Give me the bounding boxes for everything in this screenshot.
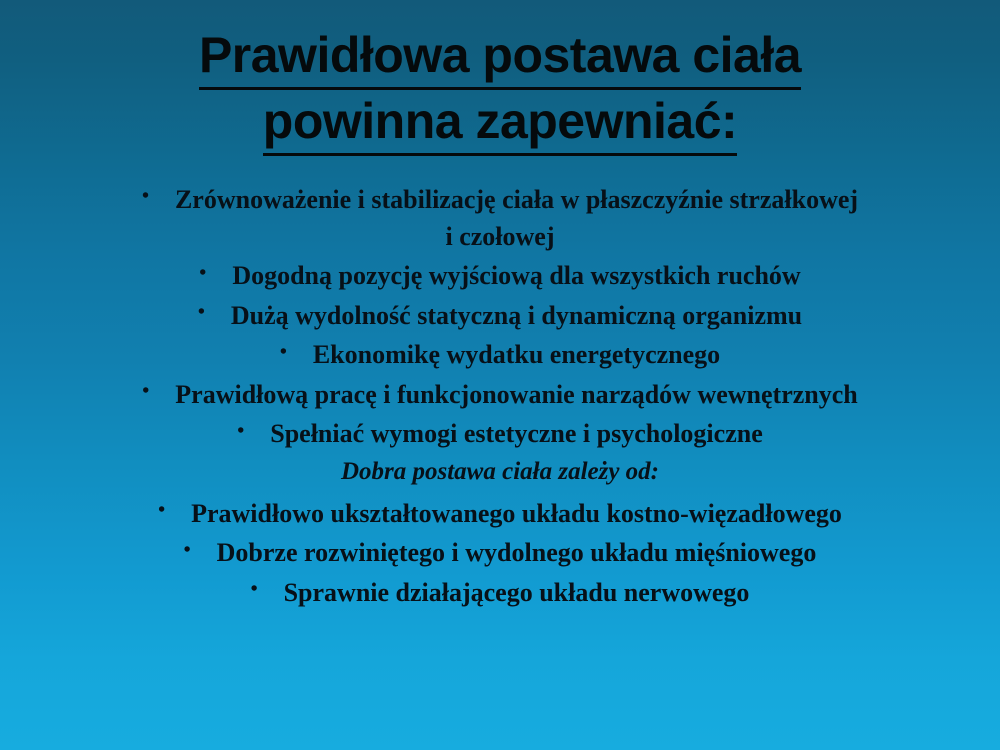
list-item: •Dogodną pozycję wyjściową dla wszystkic… [0,255,1000,295]
bullet-marker-icon: • [237,421,244,441]
slide-title: Prawidłowa postawa ciała powinna zapewni… [0,24,1000,156]
slide-title-line-2-text: powinna zapewniać: [263,90,737,156]
list-item-label: Sprawnie działającego układu nerwowego [284,574,750,611]
list-item: •Zrównoważenie i stabilizację ciała w pł… [0,178,1000,218]
list-item-label: Dużą wydolność statyczną i dynamiczną or… [231,297,802,334]
slide-body-list: •Zrównoważenie i stabilizację ciała w pł… [0,178,1000,611]
bullet-marker-icon: • [142,186,149,206]
list-item: •Ekonomikę wydatku energetycznego [0,334,1000,374]
list-item: •Spełniać wymogi estetyczne i psychologi… [0,413,1000,453]
bullet-marker-icon: • [142,381,149,401]
bullet-marker-icon: • [280,342,287,362]
bullet-marker-icon: • [198,302,205,322]
slide-title-line-1-text: Prawidłowa postawa ciała [199,24,801,90]
bullet-marker-icon: • [251,579,258,599]
list-item-label: Dobrze rozwiniętego i wydolnego układu m… [217,534,817,571]
bullet-marker-icon: • [199,263,206,283]
list-item: •Prawidłową pracę i funkcjonowanie narzą… [0,373,1000,413]
bullet-marker-icon: • [184,540,191,560]
list-item-continuation: i czołowej [0,218,1000,255]
list-item-label: Prawidłowo ukształtowanego układu kostno… [191,495,842,532]
list-item: •Prawidłowo ukształtowanego układu kostn… [0,492,1000,532]
bullet-marker-icon: • [158,500,165,520]
slide-title-line-2: powinna zapewniać: [0,90,1000,156]
list-item-label: Spełniać wymogi estetyczne i psychologic… [270,415,763,452]
list-item: •Sprawnie działającego układu nerwowego [0,571,1000,611]
list-item-label: Prawidłową pracę i funkcjonowanie narząd… [175,376,857,413]
list-item-label: Dogodną pozycję wyjściową dla wszystkich… [232,257,800,294]
list-item-label: Ekonomikę wydatku energetycznego [313,336,720,373]
list-item-label: Zrównoważenie i stabilizację ciała w pła… [175,181,858,218]
slide-title-line-1: Prawidłowa postawa ciała [0,24,1000,90]
list-item: •Dobrze rozwiniętego i wydolnego układu … [0,532,1000,572]
list-item: •Dużą wydolność statyczną i dynamiczną o… [0,294,1000,334]
presentation-slide: Prawidłowa postawa ciała powinna zapewni… [0,0,1000,750]
body-subheading: Dobra postawa ciała zależy od: [0,452,1000,492]
